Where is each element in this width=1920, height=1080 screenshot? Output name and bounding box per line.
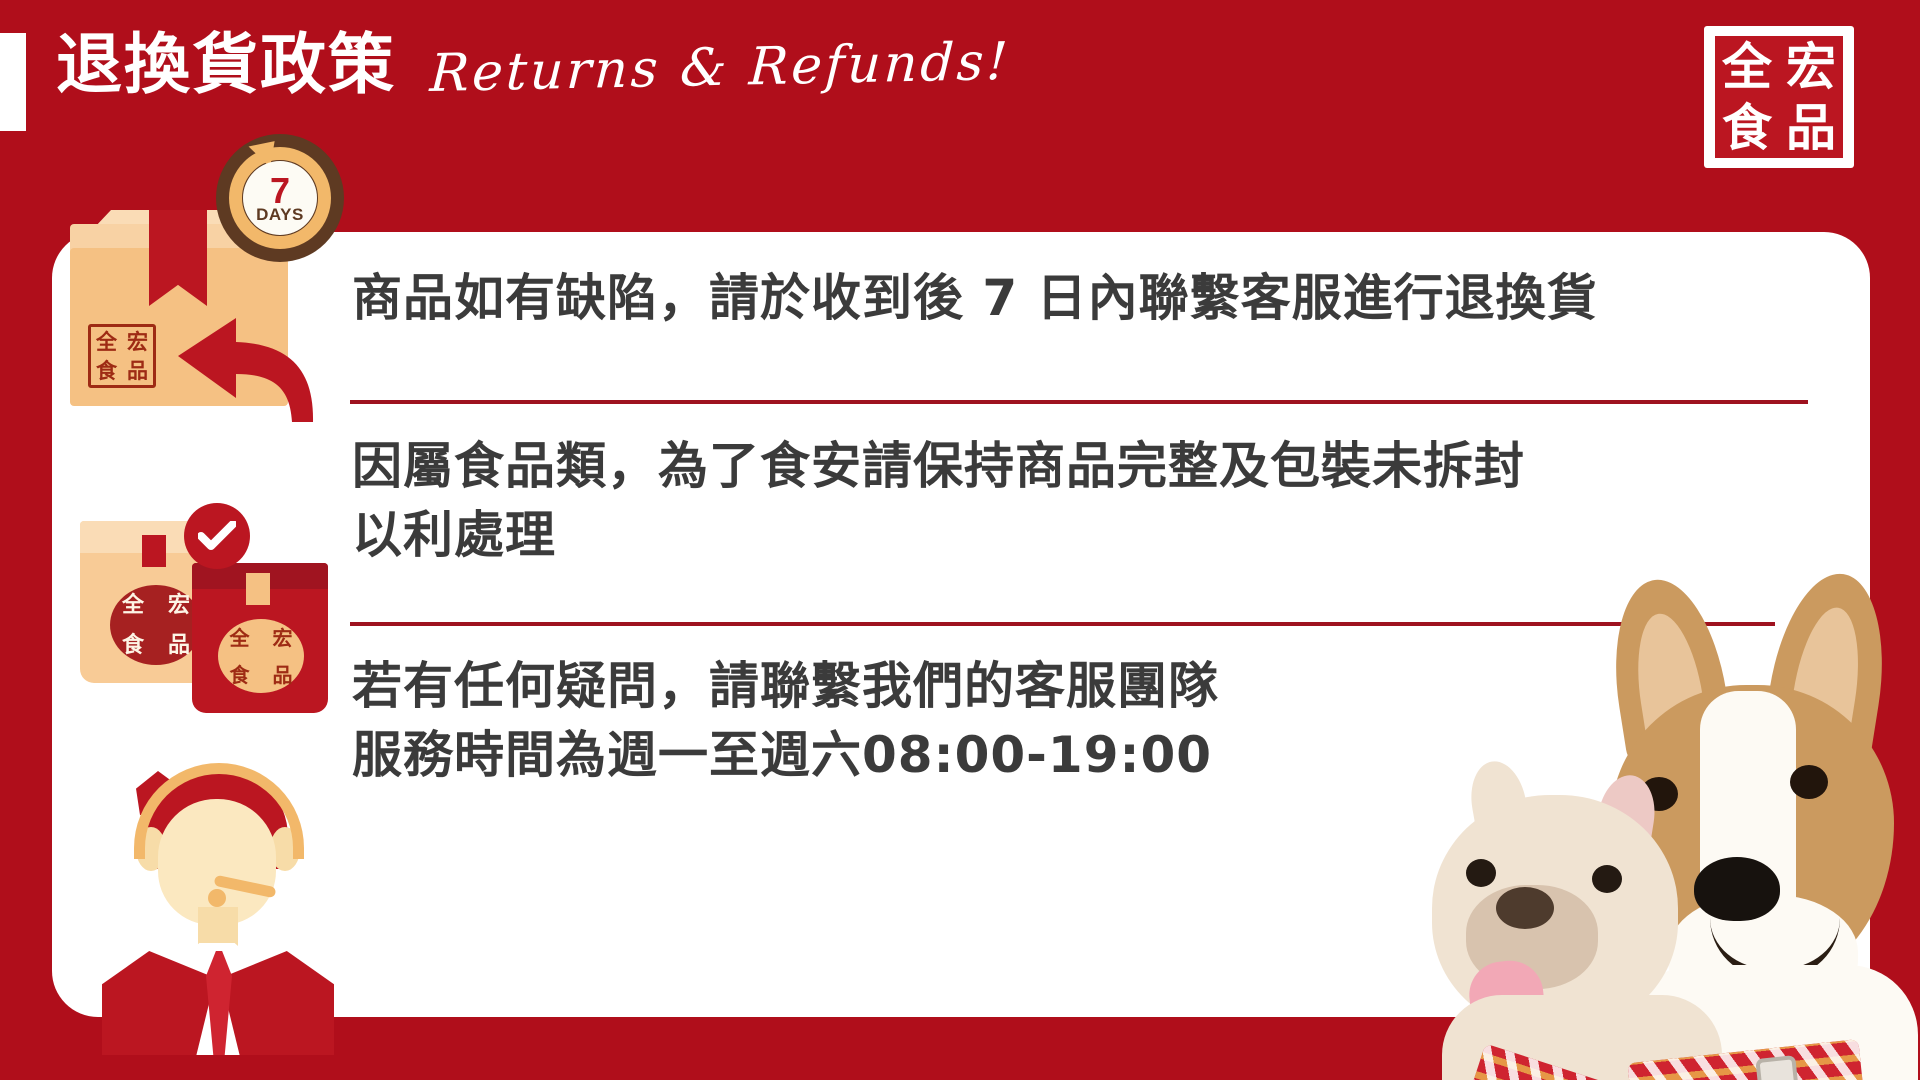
badge-inner: 7 DAYS <box>243 161 317 235</box>
corgi-collar-buckle <box>1755 1055 1800 1080</box>
corgi-collar <box>1627 1039 1864 1080</box>
sealed-food-pouches-check-icon: 全 宏 食 品 全 宏 食 品 <box>66 501 366 741</box>
header-accent-bar <box>0 33 26 131</box>
pouch-b-char-2: 宏 <box>273 628 293 648</box>
seal-char-2: 宏 <box>1786 42 1836 92</box>
returns-policy-banner: 退換貨政策 Returns & Refunds! 全 宏 食 品 全 宏 食 品 <box>0 0 1920 1080</box>
box-stamp-char-1: 全 <box>96 331 117 352</box>
pouch-a-char-2: 宏 <box>168 594 190 616</box>
badge-number: 7 <box>270 174 290 207</box>
seal-char-4: 品 <box>1786 103 1836 153</box>
page-title-zh: 退換貨政策 <box>56 32 396 98</box>
box-stamp-char-3: 食 <box>96 360 117 381</box>
brand-seal-characters: 全 宏 食 品 <box>1715 36 1843 158</box>
pouch-b-char-3: 食 <box>230 665 250 685</box>
policy-row-1-icon-cell: 全 宏 食 品 7 DAYS <box>52 232 382 512</box>
pouch-a-char-1: 全 <box>122 594 144 616</box>
seal-char-1: 全 <box>1722 42 1772 92</box>
pouch-a-char-3: 食 <box>122 634 144 656</box>
divider-2 <box>350 622 1775 626</box>
policy-row-3-icon-cell <box>52 737 382 1017</box>
customer-service-agent-icon <box>88 755 348 1055</box>
frenchie-collar <box>1468 1043 1676 1080</box>
return-arrow-icon <box>164 304 314 424</box>
pouch-a-char-4: 品 <box>168 634 190 656</box>
policy-text-3: 若有任何疑問，請聯繫我們的客服團隊 服務時間為週一至週六08:00-19:00 <box>352 652 1219 790</box>
badge-label: DAYS <box>256 207 304 223</box>
policy-row-2-icon-cell: 全 宏 食 品 全 宏 食 品 <box>52 487 382 737</box>
seal-char-3: 食 <box>1722 103 1772 153</box>
policy-text-2: 因屬食品類，為了食安請保持商品完整及包裝未拆封 以利處理 <box>352 432 1525 570</box>
checkmark-badge <box>184 503 250 569</box>
policy-card: 全 宏 食 品 7 DAYS 商品如有 <box>52 232 1870 1017</box>
brand-seal-logo: 全 宏 食 品 <box>1704 26 1854 168</box>
policy-text-1: 商品如有缺陷，請於收到後 7 日內聯繫客服進行退換貨 <box>352 264 1598 333</box>
pouch-b-char-1: 全 <box>230 628 250 648</box>
box-brand-stamp: 全 宏 食 品 <box>88 324 156 388</box>
agent-microphone-tip <box>208 889 226 907</box>
check-icon <box>198 521 236 551</box>
food-pouch-red-tab <box>246 573 270 605</box>
seven-days-badge: 7 DAYS <box>216 134 344 262</box>
food-pouch-tan-label: 全 宏 食 品 <box>110 585 202 665</box>
page-title-en: Returns & Refunds! <box>429 32 1012 104</box>
box-stamp-char-2: 宏 <box>127 331 148 352</box>
food-pouch-tan-tab <box>142 535 166 567</box>
divider-1 <box>350 400 1808 404</box>
food-pouch-red-label: 全 宏 食 品 <box>218 619 304 693</box>
return-package-7-days-icon: 全 宏 食 品 7 DAYS <box>60 182 360 462</box>
box-stamp-char-4: 品 <box>127 360 148 381</box>
pouch-b-char-4: 品 <box>273 665 293 685</box>
